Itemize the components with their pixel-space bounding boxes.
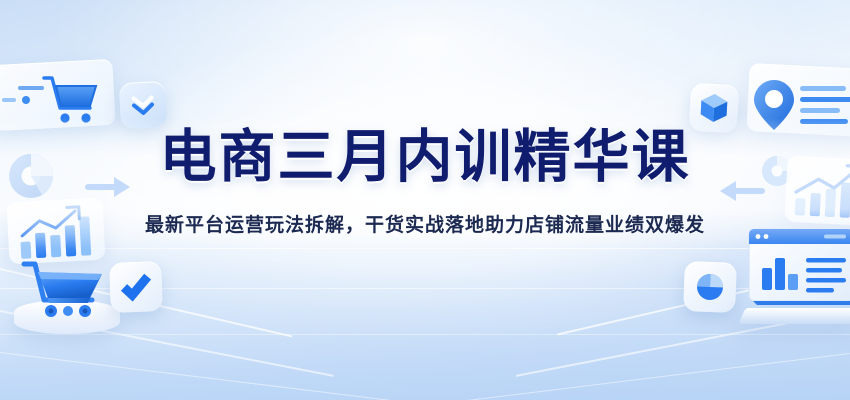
shopping-cart-3d-icon (18, 258, 114, 322)
cube-tile (689, 83, 739, 133)
banner-subtitle: 最新平台运营玩法拆解，干货实战落地助力店铺流量业绩双爆发 (0, 210, 850, 237)
banner-text-block: 电商三月内训精华课 最新平台运营玩法拆解，干货实战落地助力店铺流量业绩双爆发 (0, 128, 850, 237)
floor-line-5 (0, 352, 417, 400)
browser-dashboard-icon (748, 228, 850, 308)
checkmark-tile (109, 261, 163, 313)
pie-chart-tile-icon (693, 270, 726, 303)
floor-line-6 (433, 353, 850, 400)
list-lines-icon (800, 84, 850, 130)
pie-chart-tile (683, 261, 737, 313)
shopping-cart-icon (40, 72, 102, 128)
location-pin-icon (748, 76, 800, 136)
chevron-double-down-tile (119, 81, 167, 129)
perspective-floor (0, 230, 850, 400)
dashboard-pedestal (738, 308, 850, 324)
cube-3d-icon (698, 91, 730, 125)
banner-title: 电商三月内训精华课 (0, 128, 850, 188)
chevron-double-down-icon (129, 92, 156, 117)
checkmark-icon (121, 273, 152, 300)
promo-banner: 电商三月内训精华课 最新平台运营玩法拆解，干货实战落地助力店铺流量业绩双爆发 (0, 0, 850, 400)
